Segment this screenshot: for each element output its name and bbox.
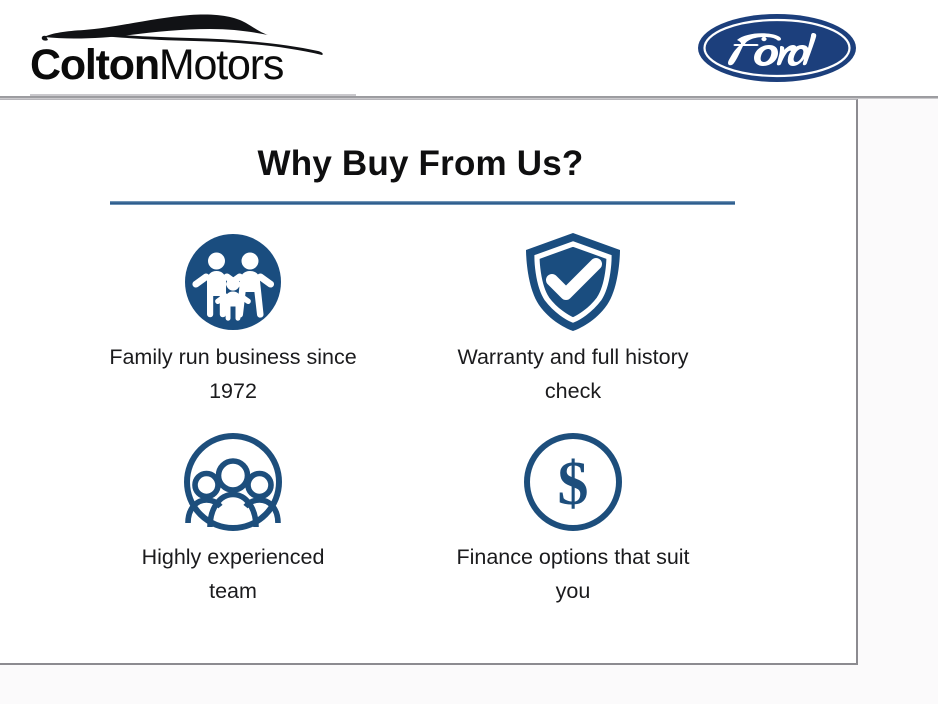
feature-item: $ Finance options that suityou (408, 430, 738, 630)
content-panel: Why Buy From Us? (0, 99, 858, 665)
feature-label-line2: 1972 (209, 379, 257, 403)
feature-label-line1: Finance options that suit (456, 545, 689, 569)
feature-label-line1: Warranty and full history (457, 345, 688, 369)
dealer-name-light: Motors (159, 41, 283, 89)
page-title: Why Buy From Us? (0, 144, 843, 184)
feature-item: Highly experiencedteam (68, 430, 398, 630)
feature-label-line2: team (209, 579, 257, 603)
dollar-circle-icon: $ (521, 430, 625, 534)
feature-item: Family run business since1972 (68, 230, 398, 430)
dealer-wordmark: ColtonMotors (30, 40, 352, 90)
feature-label-line2: you (556, 579, 591, 603)
dealer-logo: ColtonMotors (22, 8, 352, 90)
dealer-name-bold: Colton (30, 41, 159, 89)
feature-label: Highly experiencedteam (68, 540, 398, 608)
slide-canvas: ColtonMotors Why Buy From Us? (0, 0, 938, 704)
team-group-icon (181, 430, 285, 534)
ford-oval-logo (697, 13, 857, 83)
feature-label: Warranty and full historycheck (408, 340, 738, 408)
feature-label: Finance options that suityou (408, 540, 738, 608)
feature-label-line2: check (545, 379, 601, 403)
feature-item: Warranty and full historycheck (408, 230, 738, 430)
feature-label: Family run business since1972 (68, 340, 398, 408)
family-icon (181, 230, 285, 334)
feature-label-line1: Family run business since (109, 345, 356, 369)
feature-label-line1: Highly experienced (142, 545, 325, 569)
slide-header: ColtonMotors (0, 0, 938, 97)
features-grid: Family run business since1972 Warranty a… (58, 230, 786, 640)
title-divider (110, 201, 735, 205)
shield-check-icon (521, 230, 625, 334)
svg-text:$: $ (558, 450, 589, 518)
